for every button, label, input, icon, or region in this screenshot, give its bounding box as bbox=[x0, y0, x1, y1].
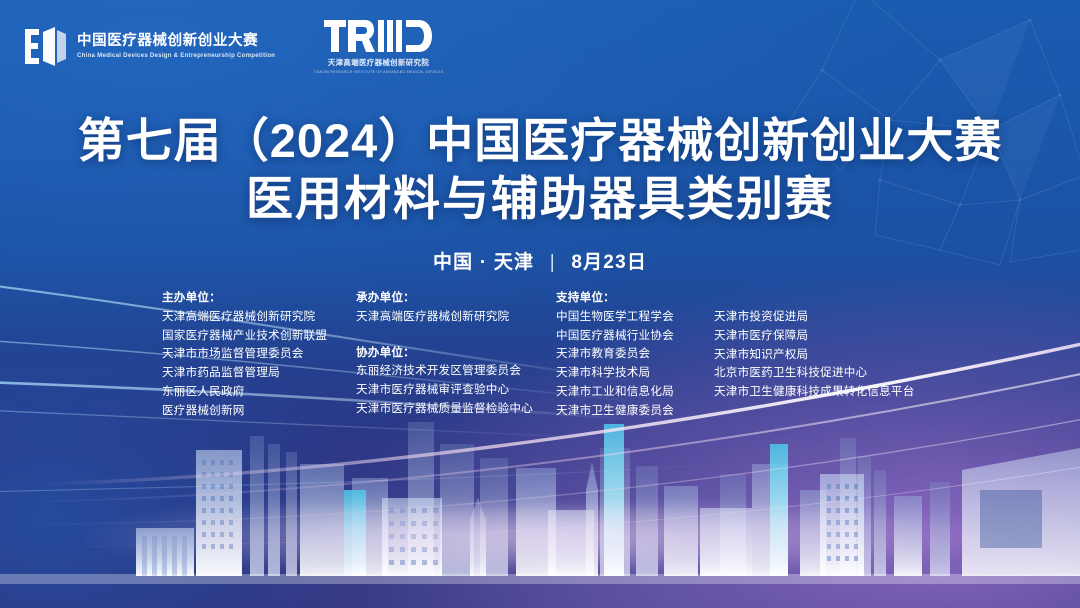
list-item: 天津市教育委员会 bbox=[556, 345, 696, 364]
competition-logo: 中国医疗器械创新创业大赛 China Medical Devices Desig… bbox=[22, 25, 275, 67]
list-item: 天津市工业和信息化局 bbox=[556, 383, 696, 402]
list-item: 东丽区人民政府 bbox=[162, 383, 338, 402]
title-line-2: 医用材料与辅助器具类别赛 bbox=[0, 169, 1080, 229]
subtitle-separator: | bbox=[550, 252, 556, 274]
column-spacer bbox=[356, 327, 538, 344]
ground-glow bbox=[0, 506, 1080, 566]
trmd-wordmark-icon bbox=[324, 19, 432, 53]
list-item: 天津市市场监督管理委员会 bbox=[162, 345, 338, 364]
organizers-column-support: 支持单位： 中国生物医学工程学会 中国医疗器械行业协会 天津市教育委员会 天津市… bbox=[556, 289, 696, 420]
title-block: 第七届（2024）中国医疗器械创新创业大赛 医用材料与辅助器具类别赛 中国 · … bbox=[0, 112, 1080, 274]
list-item: 天津市医疗器械质量监督检验中心 bbox=[356, 400, 538, 419]
list-item: 医疗器械创新网 bbox=[162, 402, 338, 421]
institute-logo: 天津高端医疗器械创新研究院 TIANJIN RESEARCH INSTITUTE… bbox=[313, 19, 443, 74]
list-item: 国家医疗器械产业技术创新联盟 bbox=[162, 327, 338, 346]
list-item: 天津市投资促进局 bbox=[714, 308, 918, 327]
list-item: 天津市药品监督管理局 bbox=[162, 364, 338, 383]
list-item: 中国生物医学工程学会 bbox=[556, 308, 696, 327]
list-item: 天津高端医疗器械创新研究院 bbox=[356, 308, 538, 327]
competition-logo-en: China Medical Devices Design & Entrepren… bbox=[77, 51, 275, 59]
subtitle-location: 中国 · 天津 bbox=[433, 252, 534, 273]
host-heading: 主办单位： bbox=[162, 289, 338, 308]
list-item: 天津市卫生健康科技成果转化信息平台 bbox=[714, 383, 918, 402]
competition-logo-cn: 中国医疗器械创新创业大赛 bbox=[77, 33, 275, 50]
list-item: 东丽经济技术开发区管理委员会 bbox=[356, 362, 538, 381]
subtitle-line: 中国 · 天津 | 8月23日 bbox=[0, 247, 1080, 274]
list-item: 天津市知识产权局 bbox=[714, 346, 918, 365]
support-heading: 支持单位： bbox=[556, 289, 696, 308]
list-item: 天津市医疗保障局 bbox=[714, 327, 918, 346]
poster-canvas: 中国医疗器械创新创业大赛 China Medical Devices Desig… bbox=[0, 0, 1080, 608]
subtitle-date: 8月23日 bbox=[571, 252, 647, 273]
list-item: 天津市卫生健康委员会 bbox=[556, 402, 696, 421]
organizers-block: 主办单位： 天津高端医疗器械创新研究院 国家医疗器械产业技术创新联盟 天津市市场… bbox=[0, 289, 1080, 420]
list-item: 北京市医药卫生科技促进中心 bbox=[714, 364, 918, 383]
list-item: 天津市科学技术局 bbox=[556, 364, 696, 383]
column-spacer bbox=[714, 289, 918, 308]
institute-logo-en: TIANJIN RESEARCH INSTITUTE OF ADVANCED M… bbox=[313, 70, 443, 74]
organizers-column-host: 主办单位： 天津高端医疗器械创新研究院 国家医疗器械产业技术创新联盟 天津市市场… bbox=[162, 289, 338, 420]
institute-logo-cn: 天津高端医疗器械创新研究院 bbox=[328, 57, 429, 68]
organizer-heading: 承办单位： bbox=[356, 289, 538, 308]
title-line-1: 第七届（2024）中国医疗器械创新创业大赛 bbox=[0, 112, 1080, 169]
header-logo-bar: 中国医疗器械创新创业大赛 China Medical Devices Desig… bbox=[0, 0, 1080, 92]
organizers-column-support-cont: 天津市投资促进局 天津市医疗保障局 天津市知识产权局 北京市医药卫生科技促进中心… bbox=[714, 289, 918, 402]
list-item: 天津市医疗器械审评查验中心 bbox=[356, 381, 538, 400]
list-item: 中国医疗器械行业协会 bbox=[556, 327, 696, 346]
competition-logo-text: 中国医疗器械创新创业大赛 China Medical Devices Desig… bbox=[77, 33, 275, 59]
organizers-column-organizer: 承办单位： 天津高端医疗器械创新研究院 协办单位： 东丽经济技术开发区管理委员会… bbox=[356, 289, 538, 419]
list-item: 天津高端医疗器械创新研究院 bbox=[162, 308, 338, 327]
open-door-logo-icon bbox=[22, 25, 68, 67]
co-organizer-heading: 协办单位： bbox=[356, 344, 538, 363]
